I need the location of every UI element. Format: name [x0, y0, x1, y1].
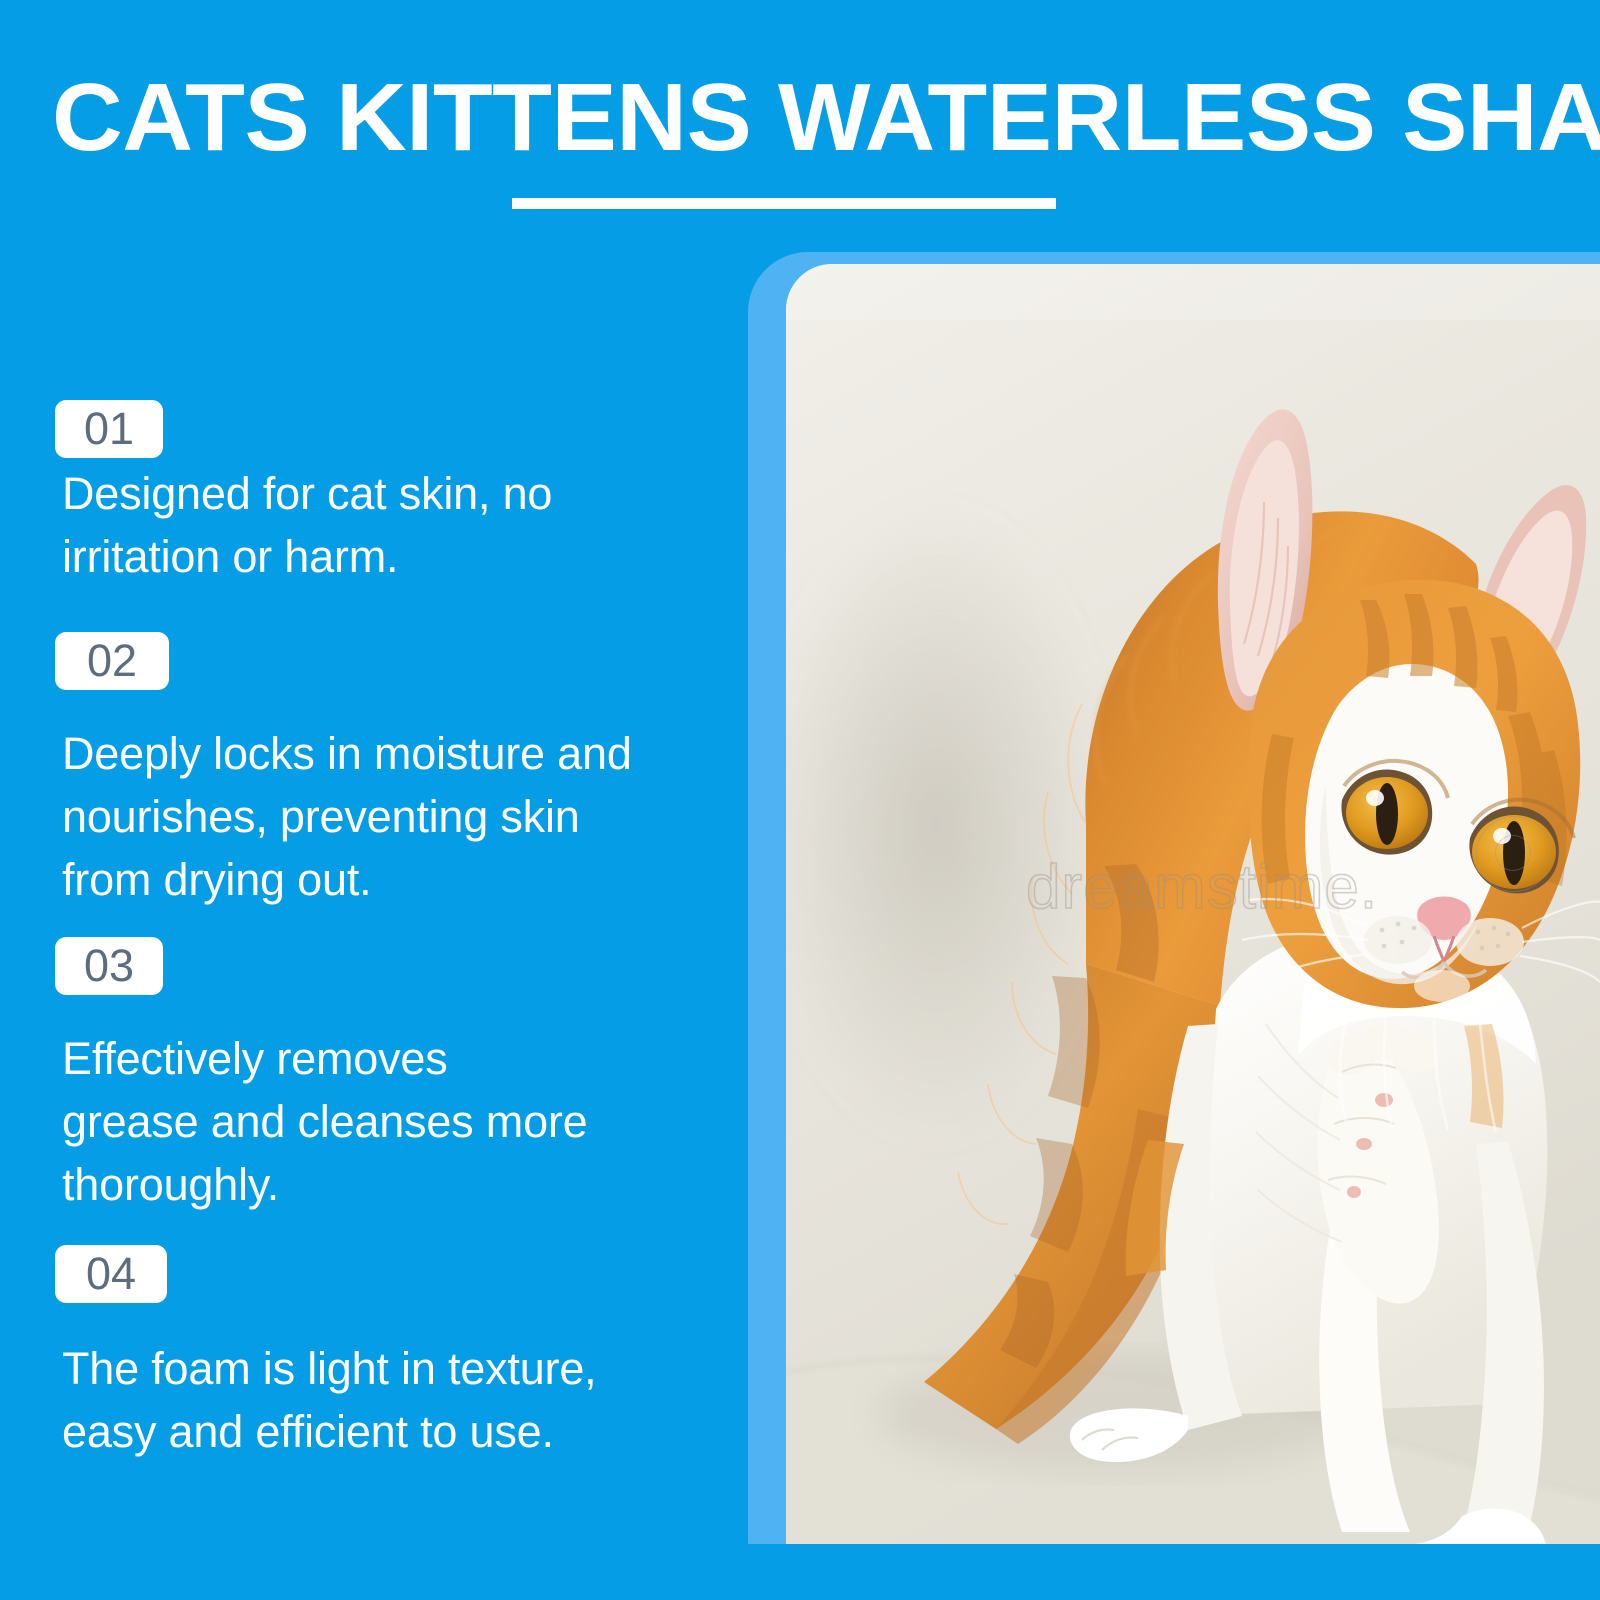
poster-root: CATS KITTENS WATERLESS SHAMPOO 01 Design…: [0, 0, 1600, 1600]
cat-illustration: [786, 264, 1600, 1544]
feature-number-badge: 02: [55, 632, 169, 690]
feature-number-badge: 04: [55, 1245, 167, 1303]
page-title: CATS KITTENS WATERLESS SHAMPOO: [52, 72, 1582, 164]
title-underline-rule: [512, 198, 1056, 209]
cat-photo: dreamstime.: [786, 264, 1600, 1544]
product-photo-frame: dreamstime.: [748, 252, 1600, 1544]
feature-number-badge: 03: [55, 937, 163, 995]
feature-description: Effectively removes grease and cleanses …: [62, 1027, 682, 1216]
feature-description: The foam is light in texture, easy and e…: [62, 1337, 702, 1463]
feature-number-badge: 01: [55, 400, 163, 458]
feature-description: Deeply locks in moisture and nourishes, …: [62, 722, 722, 911]
feature-description: Designed for cat skin, no irritation or …: [62, 462, 702, 588]
